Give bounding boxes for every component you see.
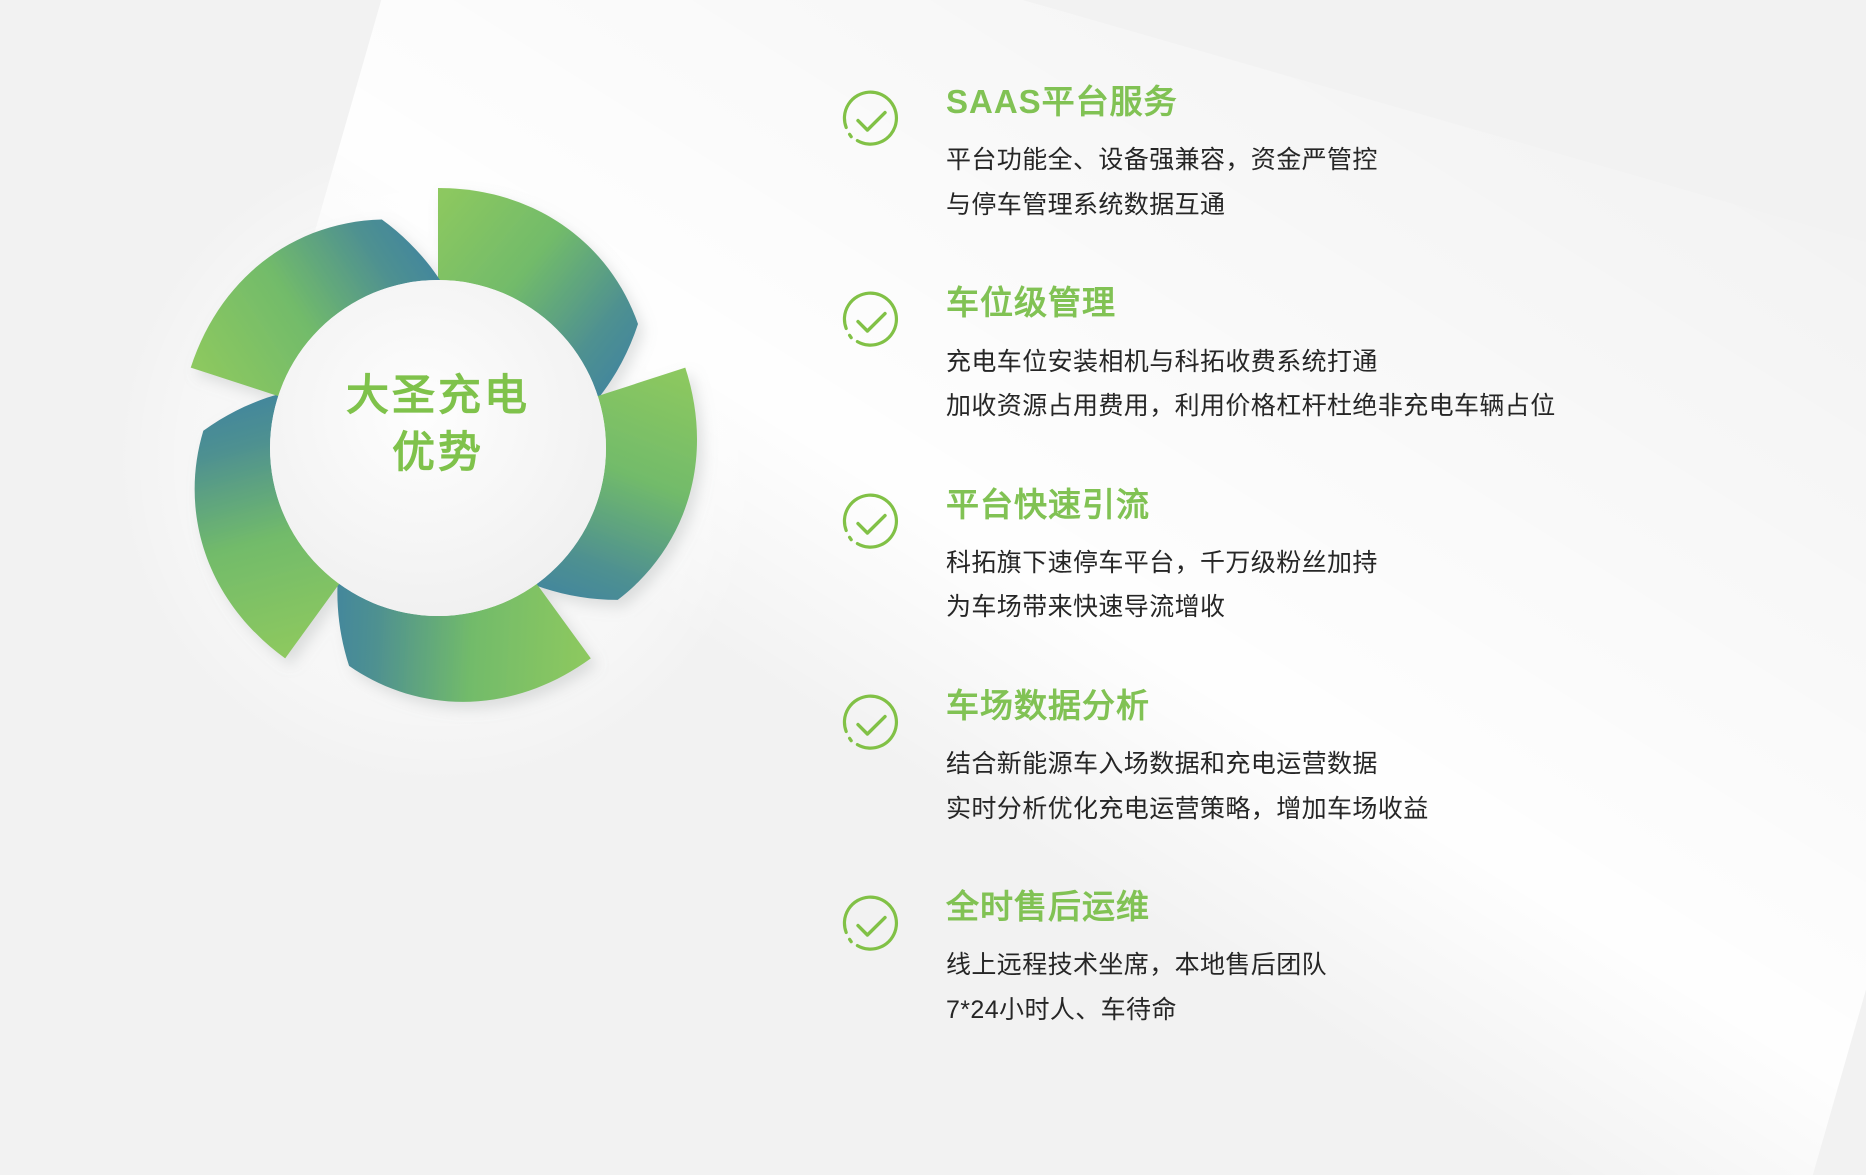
feature-line: 充电车位安装相机与科拓收费系统打通 [946, 340, 1556, 385]
feature-item-saas-platform-service: SAAS平台服务 平台功能全、设备强兼容，资金严管控 与停车管理系统数据互通 [838, 84, 1838, 227]
feature-body: 车位级管理 充电车位安装相机与科拓收费系统打通 加收资源占用费用，利用价格杠杆杜… [946, 285, 1556, 428]
feature-line: 平台功能全、设备强兼容，资金严管控 [946, 138, 1378, 183]
feature-line: 科拓旗下速停车平台，千万级粉丝加持 [946, 541, 1378, 586]
feature-title: 车位级管理 [946, 285, 1556, 321]
feature-title: 平台快速引流 [946, 487, 1378, 523]
feature-line: 7*24小时人、车待命 [946, 988, 1327, 1033]
feature-item-full-time-after-sales: 全时售后运维 线上远程技术坐席，本地售后团队 7*24小时人、车待命 [838, 889, 1838, 1032]
feature-body: 平台快速引流 科拓旗下速停车平台，千万级粉丝加持 为车场带来快速导流增收 [946, 487, 1378, 630]
feature-body: SAAS平台服务 平台功能全、设备强兼容，资金严管控 与停车管理系统数据互通 [946, 84, 1378, 227]
logo-center-text: 大圣充电 优势 [138, 368, 738, 482]
feature-line: 实时分析优化充电运营策略，增加车场收益 [946, 787, 1429, 832]
check-circle-icon [838, 691, 904, 757]
feature-line: 线上远程技术坐席，本地售后团队 [946, 943, 1327, 988]
feature-title: 全时售后运维 [946, 889, 1327, 925]
feature-item-space-level-management: 车位级管理 充电车位安装相机与科拓收费系统打通 加收资源占用费用，利用价格杠杆杜… [838, 285, 1838, 428]
feature-line: 结合新能源车入场数据和充电运营数据 [946, 742, 1429, 787]
feature-line: 与停车管理系统数据互通 [946, 183, 1378, 228]
feature-line: 为车场带来快速导流增收 [946, 585, 1378, 630]
feature-body: 全时售后运维 线上远程技术坐席，本地售后团队 7*24小时人、车待命 [946, 889, 1327, 1032]
feature-title: 车场数据分析 [946, 688, 1429, 724]
check-circle-icon [838, 87, 904, 153]
check-circle-icon [838, 892, 904, 958]
feature-line: 加收资源占用费用，利用价格杠杆杜绝非充电车辆占位 [946, 384, 1556, 429]
logo-title-line-2: 优势 [138, 425, 738, 482]
feature-item-platform-traffic: 平台快速引流 科拓旗下速停车平台，千万级粉丝加持 为车场带来快速导流增收 [838, 487, 1838, 630]
infographic-canvas: 大圣充电 优势 SAAS平台服务 平台功能全、设备强兼容，资金严管控 与停车管理… [0, 0, 1866, 1175]
feature-title: SAAS平台服务 [946, 84, 1378, 120]
feature-item-parking-data-analysis: 车场数据分析 结合新能源车入场数据和充电运营数据 实时分析优化充电运营策略，增加… [838, 688, 1838, 831]
check-circle-icon [838, 490, 904, 556]
feature-body: 车场数据分析 结合新能源车入场数据和充电运营数据 实时分析优化充电运营策略，增加… [946, 688, 1429, 831]
feature-list: SAAS平台服务 平台功能全、设备强兼容，资金严管控 与停车管理系统数据互通 车… [838, 84, 1838, 1032]
check-circle-icon [838, 288, 904, 354]
logo-title-line-1: 大圣充电 [138, 368, 738, 425]
